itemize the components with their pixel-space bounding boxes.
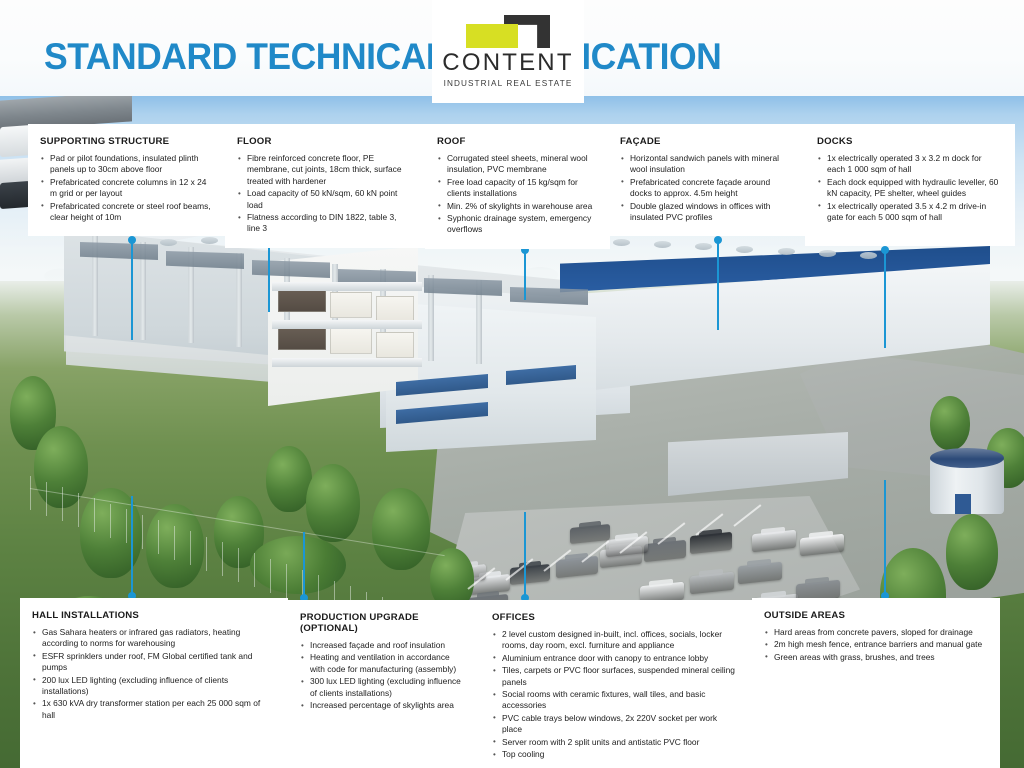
fence-post xyxy=(46,482,47,516)
card-bullet-item: Green areas with grass, brushes, and tre… xyxy=(764,652,986,663)
card-bullet-item: Pad or pilot foundations, insulated plin… xyxy=(40,153,214,176)
card-bullet-item: Prefabricated concrete façade around doc… xyxy=(620,177,794,200)
fence-post xyxy=(94,498,95,532)
info-card-floor: FLOORFibre reinforced concrete floor, PE… xyxy=(225,124,425,248)
card-bullet-item: 1x electrically operated 3 x 3.2 m dock … xyxy=(817,153,1001,176)
card-bullet-item: Each dock equipped with hydraulic levell… xyxy=(817,177,1001,200)
connector-dot xyxy=(128,236,136,244)
card-bullet-list: Gas Sahara heaters or infrared gas radia… xyxy=(32,627,274,721)
fence-post xyxy=(110,504,111,538)
fence-post xyxy=(126,509,127,543)
card-title: OUTSIDE AREAS xyxy=(764,610,986,621)
card-bullet-item: Aluminium entrance door with canopy to e… xyxy=(492,653,738,664)
card-bullet-item: Server room with 2 split units and antis… xyxy=(492,737,738,748)
card-bullet-item: Fibre reinforced concrete floor, PE memb… xyxy=(237,153,411,187)
landscape-tree xyxy=(146,504,204,588)
card-bullet-item: Heating and ventilation in accordance wi… xyxy=(300,652,466,675)
card-bullet-item: Social rooms with ceramic fixtures, wall… xyxy=(492,689,738,712)
card-title: HALL INSTALLATIONS xyxy=(32,610,274,621)
card-bullet-item: 2m high mesh fence, entrance barriers an… xyxy=(764,639,986,650)
page-title: STANDARD TECHNICAL SPECIFICATION xyxy=(44,36,721,78)
card-bullet-item: Tiles, carpets or PVC floor surfaces, su… xyxy=(492,665,738,688)
fence-post xyxy=(142,515,143,549)
card-bullet-item: Horizontal sandwich panels with mineral … xyxy=(620,153,794,176)
fence-post xyxy=(270,559,271,593)
card-title: DOCKS xyxy=(817,136,1001,147)
landscape-tree xyxy=(306,464,360,542)
card-bullet-list: Hard areas from concrete pavers, sloped … xyxy=(764,627,986,663)
office-room xyxy=(376,332,414,358)
fence-post xyxy=(78,493,79,527)
card-title: PRODUCTION UPGRADE (OPTIONAL) xyxy=(300,612,466,634)
office-room xyxy=(330,328,372,354)
logo-wordmark: CONTENT xyxy=(442,51,573,75)
info-card-docks: DOCKS1x electrically operated 3 x 3.2 m … xyxy=(805,124,1015,246)
card-bullet-item: PVC cable trays below windows, 2x 220V s… xyxy=(492,713,738,736)
card-bullet-list: 2 level custom designed in-built, incl. … xyxy=(492,629,738,760)
connector-line xyxy=(717,240,719,330)
card-bullet-item: Top cooling xyxy=(492,749,738,760)
card-bullet-item: 1x 630 kVA dry transformer station per e… xyxy=(32,698,274,721)
info-card-fa-ade: FAÇADEHorizontal sandwich panels with mi… xyxy=(608,124,808,236)
landscape-bush xyxy=(250,536,346,594)
fence-post xyxy=(174,526,175,560)
connector-line xyxy=(131,496,133,596)
card-title: FLOOR xyxy=(237,136,411,147)
card-bullet-item: Increased façade and roof insulation xyxy=(300,640,466,651)
card-bullet-item: 1x electrically operated 3.5 x 4.2 m dri… xyxy=(817,201,1001,224)
connector-dot xyxy=(881,246,889,254)
fence-post xyxy=(286,564,287,598)
connector-line xyxy=(524,512,526,598)
connector-line xyxy=(303,532,305,598)
card-bullet-list: Fibre reinforced concrete floor, PE memb… xyxy=(237,153,411,235)
fence-post xyxy=(158,520,159,554)
connector-line xyxy=(524,250,526,300)
logo-accent-block xyxy=(466,24,518,48)
info-card-hall-installations: HALL INSTALLATIONSGas Sahara heaters or … xyxy=(20,598,288,768)
info-card-offices: OFFICES2 level custom designed in-built,… xyxy=(480,600,752,768)
connector-line xyxy=(131,240,133,340)
card-bullet-item: Corrugated steel sheets, mineral wool in… xyxy=(437,153,596,176)
connector-line xyxy=(884,250,886,348)
office-floor-slab xyxy=(272,282,422,291)
card-bullet-list: 1x electrically operated 3 x 3.2 m dock … xyxy=(817,153,1001,223)
card-bullet-item: Load capacity of 50 kN/sqm, 60 kN point … xyxy=(237,188,411,211)
card-bullet-item: ESFR sprinklers under roof, FM Global ce… xyxy=(32,651,274,674)
office-floor-slab xyxy=(272,358,422,367)
card-bullet-item: Prefabricated concrete columns in 12 x 2… xyxy=(40,177,214,200)
fence-post xyxy=(206,537,207,571)
info-card-production-upgrade-optional: PRODUCTION UPGRADE (OPTIONAL)Increased f… xyxy=(288,600,480,768)
fence-post xyxy=(62,487,63,521)
card-bullet-list: Horizontal sandwich panels with mineral … xyxy=(620,153,794,223)
water-tank-door xyxy=(955,494,971,514)
office-room xyxy=(376,296,414,322)
card-bullet-item: 300 lux LED lighting (excluding influenc… xyxy=(300,676,466,699)
roof-skylight xyxy=(778,248,795,255)
card-bullet-item: 200 lux LED lighting (excluding influenc… xyxy=(32,675,274,698)
roof-skylight xyxy=(736,246,753,253)
card-bullet-item: Increased percentage of skylights area xyxy=(300,700,466,711)
card-title: OFFICES xyxy=(492,612,738,623)
water-tank-roof xyxy=(930,448,1004,468)
card-bullet-list: Corrugated steel sheets, mineral wool in… xyxy=(437,153,596,236)
card-bullet-item: Hard areas from concrete pavers, sloped … xyxy=(764,627,986,638)
card-title: ROOF xyxy=(437,136,596,147)
info-card-roof: ROOFCorrugated steel sheets, mineral woo… xyxy=(425,124,610,249)
card-bullet-item: Gas Sahara heaters or infrared gas radia… xyxy=(32,627,274,650)
card-bullet-list: Increased façade and roof insulationHeat… xyxy=(300,640,466,711)
logo-tagline: INDUSTRIAL REAL ESTATE xyxy=(444,79,573,88)
office-room xyxy=(330,292,372,318)
fence-post xyxy=(190,531,191,565)
card-bullet-item: Free load capacity of 15 kg/sqm for clie… xyxy=(437,177,596,200)
connector-line xyxy=(268,240,270,312)
card-bullet-item: 2 level custom designed in-built, incl. … xyxy=(492,629,738,652)
company-logo: CONTENT INDUSTRIAL REAL ESTATE xyxy=(432,0,584,103)
roof-skylight xyxy=(860,252,877,259)
card-bullet-list: Pad or pilot foundations, insulated plin… xyxy=(40,153,214,223)
info-card-supporting-structure: SUPPORTING STRUCTUREPad or pilot foundat… xyxy=(28,124,228,236)
roof-skylight xyxy=(201,237,218,244)
infographic-page: SUPPORTING STRUCTUREPad or pilot foundat… xyxy=(0,0,1024,768)
card-bullet-item: Min. 2% of skylights in warehouse area xyxy=(437,201,596,212)
truck-cab-dark xyxy=(0,181,30,209)
office-floor-slab xyxy=(272,320,422,329)
card-bullet-item: Flatness according to DIN 1822, table 3,… xyxy=(237,212,411,235)
landscape-tree xyxy=(930,396,970,450)
info-card-outside-areas: OUTSIDE AREASHard areas from concrete pa… xyxy=(752,598,1000,768)
card-bullet-item: Double glazed windows in offices with in… xyxy=(620,201,794,224)
roof-skylight xyxy=(819,250,836,257)
connector-line xyxy=(884,480,886,596)
card-bullet-item: Prefabricated concrete or steel roof bea… xyxy=(40,201,214,224)
logo-mark-icon xyxy=(466,15,550,48)
card-title: SUPPORTING STRUCTURE xyxy=(40,136,214,147)
card-bullet-item: Syphonic drainage system, emergency over… xyxy=(437,213,596,236)
connector-dot xyxy=(714,236,722,244)
card-title: FAÇADE xyxy=(620,136,794,147)
landscape-tree xyxy=(946,514,998,590)
landscape-tree xyxy=(372,488,430,570)
fence-post xyxy=(222,542,223,576)
fence-post xyxy=(30,476,31,510)
fence-post xyxy=(238,548,239,582)
fence-post xyxy=(254,553,255,587)
